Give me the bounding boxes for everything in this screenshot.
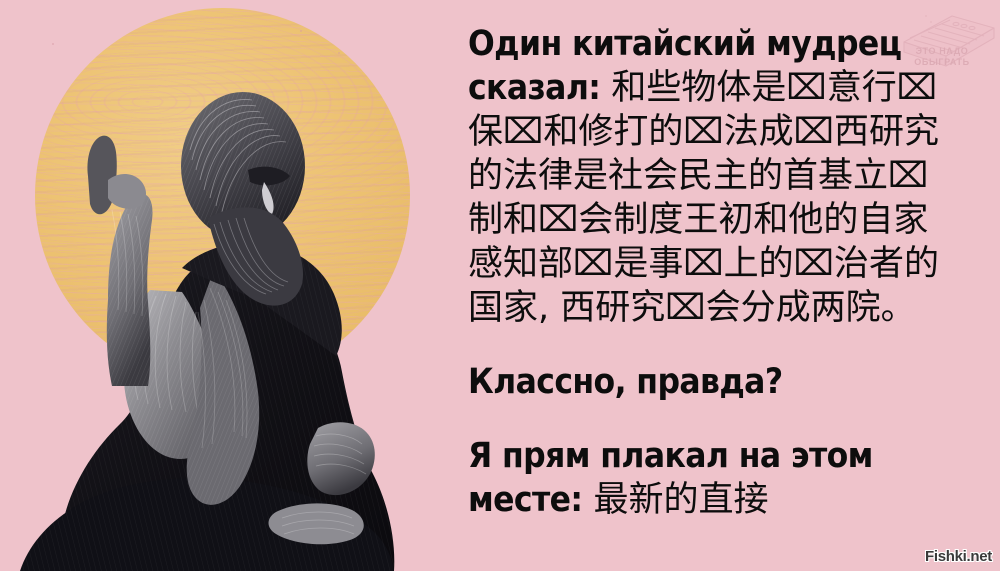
reaction-line-1-bold: Классно, правда? [468, 362, 783, 402]
quote-line-2-bold: сказал: [468, 68, 600, 108]
paragraph-3: Я прям плакал на этом месте: 最新的直接 [468, 434, 986, 522]
quote-line-1: Один китайский мудрец [468, 22, 986, 66]
closing-line-1-bold: Я прям плакал на этом [468, 436, 873, 476]
quote-line-2: сказал: 和些物体是⌧意行⌧ [468, 66, 986, 110]
sage-figure [0, 0, 460, 571]
paragraph-spacer-2 [468, 404, 986, 434]
quote-line-4-cjk: 的法律是社会民主的首基立⌧ [468, 156, 928, 196]
quote-line-2-cjk: 和些物体是⌧意行⌧ [600, 68, 937, 108]
sage-illustration [0, 0, 460, 571]
closing-line-2-bold: месте: [468, 480, 582, 520]
quote-line-3: 保⌧和修打的⌧法成⌧西研究 [468, 110, 986, 154]
quote-line-6-cjk: 感知部⌧是事⌧上的⌧治者的 [468, 244, 939, 284]
closing-line-2: месте: 最新的直接 [468, 478, 986, 522]
quote-line-7: 国家, 西研究⌧会分成两院。 [468, 286, 986, 330]
quote-line-1-bold: Один китайский мудрец [468, 24, 901, 64]
quote-line-6: 感知部⌧是事⌧上的⌧治者的 [468, 242, 986, 286]
meme-image-canvas: Один китайский мудрец сказал: 和些物体是⌧意行⌧ … [0, 0, 1000, 571]
quote-text-panel: Один китайский мудрец сказал: 和些物体是⌧意行⌧ … [462, 0, 1000, 571]
quote-line-7-cjk: 国家, 西研究⌧会分成两院。 [468, 288, 916, 328]
paragraph-2: Классно, правда? [468, 360, 986, 404]
quote-line-3-cjk: 保⌧和修打的⌧法成⌧西研究 [468, 112, 939, 152]
quote-line-5: 制和⌧会制度王初和他的自家 [468, 198, 986, 242]
reaction-line-1: Классно, правда? [468, 360, 986, 404]
quote-line-4: 的法律是社会民主的首基立⌧ [468, 154, 986, 198]
paragraph-1: Один китайский мудрец сказал: 和些物体是⌧意行⌧ … [468, 22, 986, 330]
closing-line-1: Я прям плакал на этом [468, 434, 986, 478]
quote-line-5-cjk: 制和⌧会制度王初和他的自家 [468, 200, 928, 240]
watermark-fishki: Fishki.net [925, 548, 992, 565]
thumb [108, 174, 146, 209]
paragraph-spacer-1 [468, 330, 986, 360]
closing-line-2-cjk: 最新的直接 [582, 480, 768, 520]
